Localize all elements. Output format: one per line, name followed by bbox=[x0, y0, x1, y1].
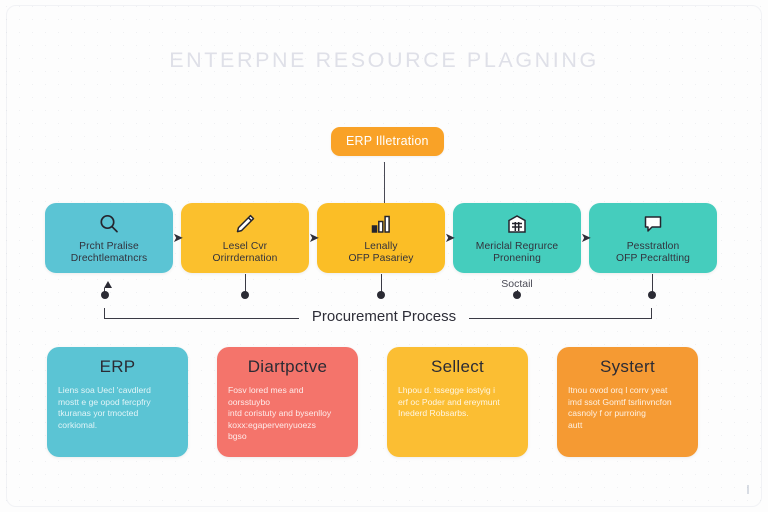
page-title: ENTERPNE RESOURCE PLAGNING bbox=[0, 48, 768, 73]
info-card-1[interactable]: ERP Liens soa Uecl 'cavdlerd mostt e ge … bbox=[47, 347, 188, 457]
badge-connector-line bbox=[384, 162, 385, 205]
process-step-1[interactable]: Prcht Pralise Drechtlematncrs bbox=[45, 203, 173, 273]
info-card-1-heading: ERP bbox=[47, 357, 188, 377]
info-card-4-body: Itnou ovod orq l corrv yeat imd ssot Gom… bbox=[568, 385, 687, 431]
rail-label-text: Procurement Process bbox=[299, 308, 469, 325]
process-step-4-label: Mericlal Regrurce Pronening bbox=[476, 241, 558, 266]
speech-bubble-icon bbox=[640, 211, 666, 237]
flow-arrow-1: ➤ bbox=[172, 231, 184, 245]
rail-node-1 bbox=[101, 291, 109, 299]
process-step-2-label: Lesel Cvr Orirrdernation bbox=[213, 241, 278, 266]
process-step-5[interactable]: Pesstratlon OFP Pecraltting bbox=[589, 203, 717, 273]
rail-node-5 bbox=[648, 291, 656, 299]
info-card-4-heading: Systert bbox=[557, 357, 698, 377]
info-card-4[interactable]: Systert Itnou ovod orq l corrv yeat imd … bbox=[557, 347, 698, 457]
info-card-3-heading: Sellect bbox=[387, 357, 528, 377]
info-card-2-heading: Diartpctve bbox=[217, 357, 358, 377]
flow-arrow-2: ➤ bbox=[308, 231, 320, 245]
process-step-2[interactable]: Lesel Cvr Orirrdernation bbox=[181, 203, 309, 273]
rail-sub-label: Soctail bbox=[453, 278, 581, 290]
process-step-4[interactable]: Mericlal Regrurce Pronening bbox=[453, 203, 581, 273]
info-card-3-body: Lhpou d. tssegge iostyig i erf oc Poder … bbox=[398, 385, 517, 420]
pencil-icon bbox=[232, 211, 258, 237]
magnifier-icon bbox=[96, 211, 122, 237]
illustration-canvas: ENTERPNE RESOURCE PLAGNING ERP Illetrati… bbox=[0, 0, 768, 512]
info-card-3[interactable]: Sellect Lhpou d. tssegge iostyig i erf o… bbox=[387, 347, 528, 457]
flow-arrow-3: ➤ bbox=[444, 231, 456, 245]
rail-up-arrow bbox=[104, 281, 112, 288]
process-step-3[interactable]: Lenally OFP Pasariey bbox=[317, 203, 445, 273]
building-icon bbox=[504, 211, 530, 237]
rail-node-2 bbox=[241, 291, 249, 299]
process-step-1-label: Prcht Pralise Drechtlematncrs bbox=[71, 241, 147, 266]
process-step-5-label: Pesstratlon OFP Pecraltting bbox=[616, 241, 690, 266]
rail-node-3 bbox=[377, 291, 385, 299]
process-step-3-label: Lenally OFP Pasariey bbox=[348, 241, 413, 266]
erp-illustration-badge: ERP Illetration bbox=[331, 127, 444, 156]
rail-node-4 bbox=[513, 291, 521, 299]
info-card-2[interactable]: Diartpctve Fosv lored mes and oorsstuybo… bbox=[217, 347, 358, 457]
flow-arrow-4: ➤ bbox=[580, 231, 592, 245]
info-card-2-body: Fosv lored mes and oorsstuybo intd coris… bbox=[228, 385, 347, 443]
rail-label: Procurement Process bbox=[0, 308, 768, 325]
corner-mark bbox=[747, 485, 749, 494]
info-card-1-body: Liens soa Uecl 'cavdlerd mostt e ge opod… bbox=[58, 385, 177, 431]
bar-chart-icon bbox=[368, 211, 394, 237]
